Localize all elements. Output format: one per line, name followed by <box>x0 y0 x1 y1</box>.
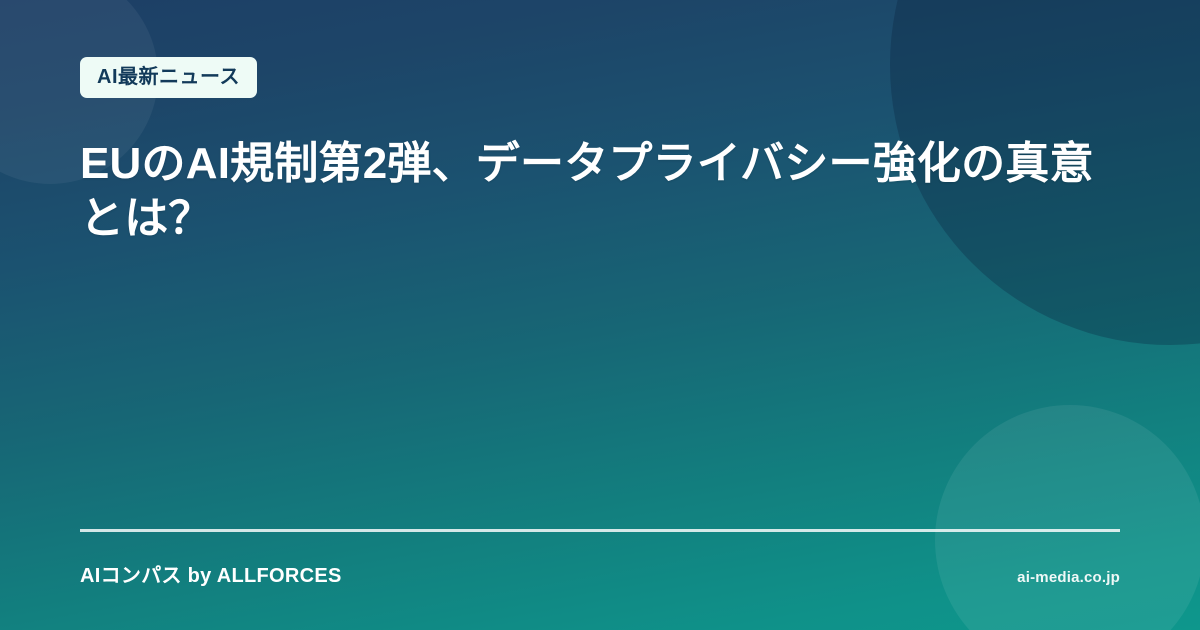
card-footer: AIコンパス by ALLFORCES ai-media.co.jp <box>80 529 1120 588</box>
page-title: EUのAI規制第2弾、データプライバシー強化の真意とは？ <box>80 136 1115 246</box>
og-image-card: AI最新ニュース EUのAI規制第2弾、データプライバシー強化の真意とは？ AI… <box>0 0 1200 630</box>
footer-row: AIコンパス by ALLFORCES ai-media.co.jp <box>80 559 1120 588</box>
brand-name: AIコンパス by ALLFORCES <box>80 559 342 588</box>
category-badge: AI最新ニュース <box>80 57 257 98</box>
site-url: ai-media.co.jp <box>1017 569 1120 586</box>
footer-divider <box>80 529 1120 532</box>
